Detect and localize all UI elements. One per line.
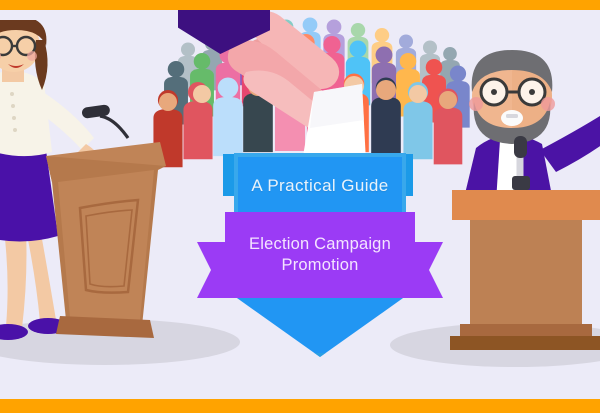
subtitle-line-2: Promotion [249, 255, 391, 276]
subtitle-ribbon: Election Campaign Promotion [197, 212, 443, 298]
orange-bottom-bar [0, 399, 600, 413]
right-podium [450, 190, 600, 350]
woman-speaker-at-podium-illustration [0, 20, 172, 380]
page-title: A Practical Guide [251, 176, 388, 196]
poster-canvas: 2019 A Practical Guide Election Campaign… [0, 0, 600, 413]
title-box: A Practical Guide [234, 153, 406, 219]
orange-top-bar [0, 0, 600, 10]
subtitle-text: Election Campaign Promotion [225, 212, 415, 298]
left-podium [46, 142, 166, 338]
subtitle-line-1: Election Campaign [249, 234, 391, 255]
bearded-man-speaker-at-podium-illustration [442, 28, 600, 373]
